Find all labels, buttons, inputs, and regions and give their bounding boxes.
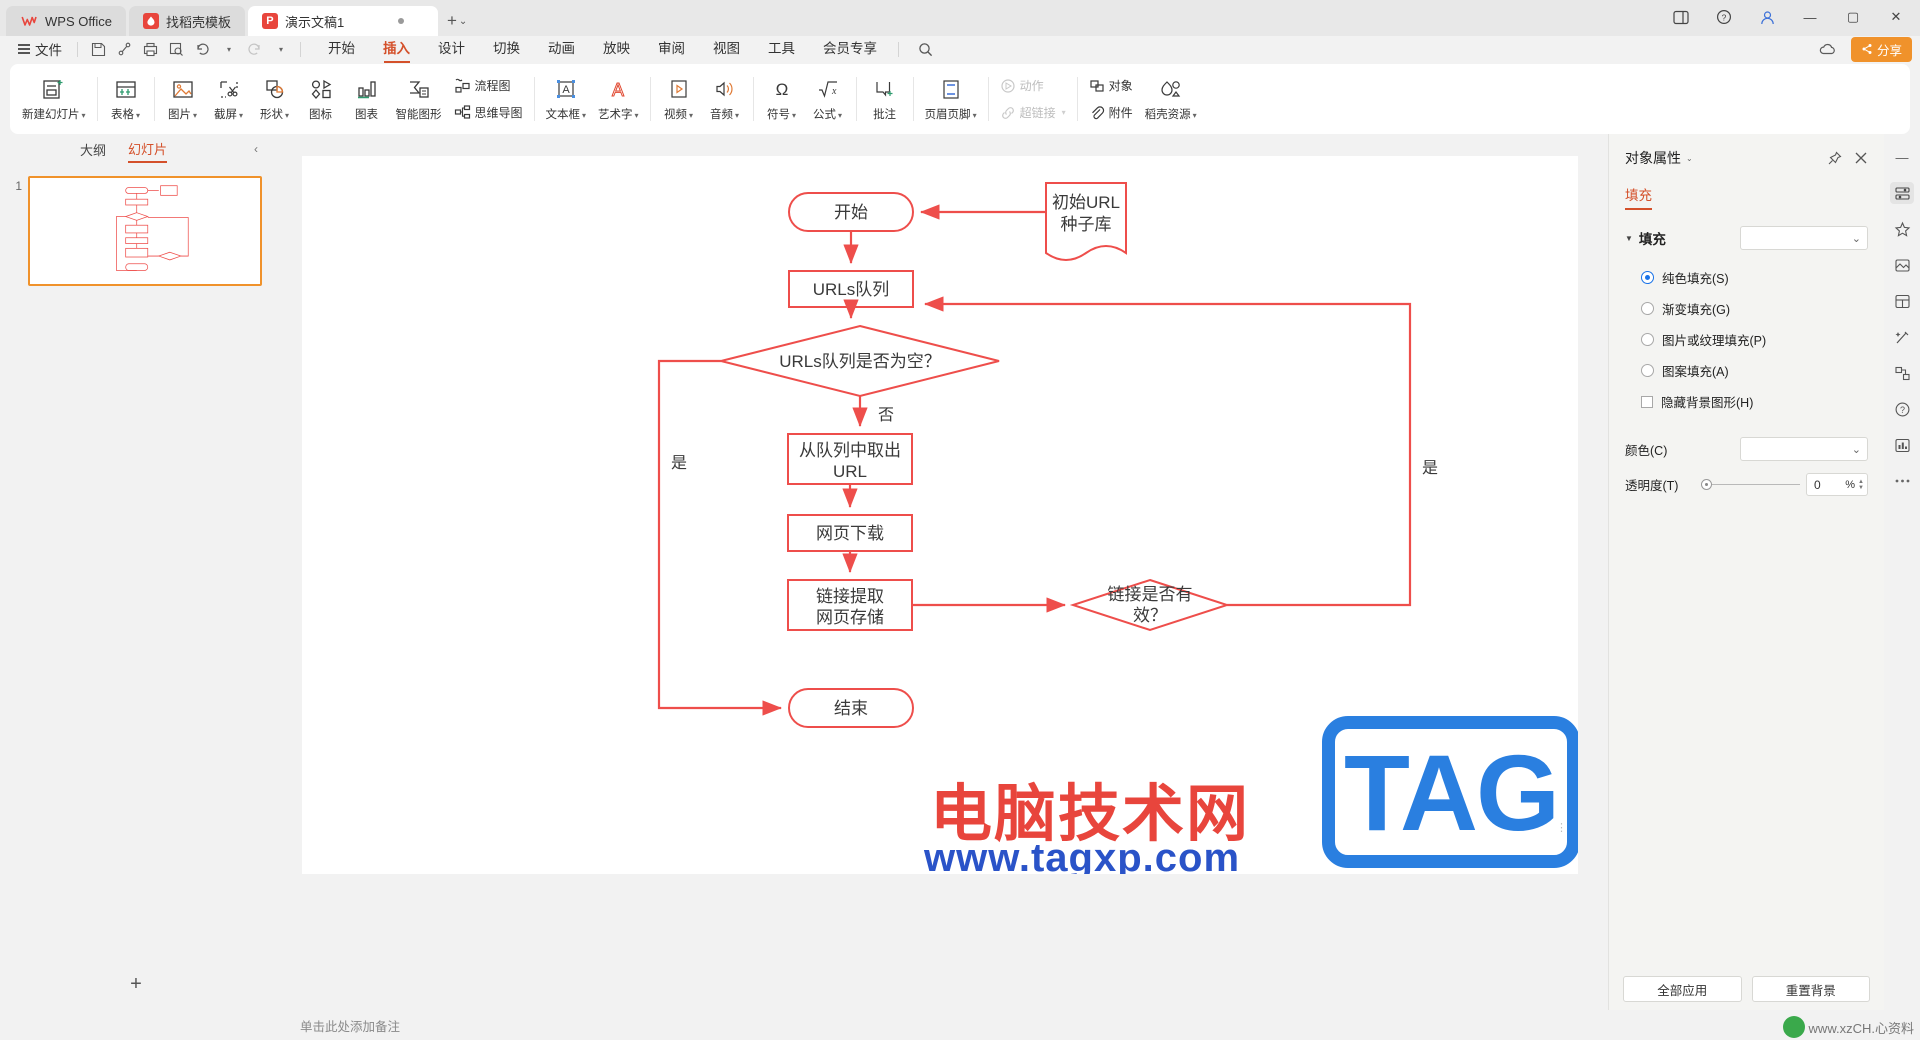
ribbon-label: 附件 <box>1109 104 1133 121</box>
transparency-value: 0 <box>1810 478 1845 492</box>
symbol-button[interactable]: Ω 符号▾ <box>759 68 805 130</box>
magic-icon[interactable] <box>1890 326 1914 348</box>
account-icon[interactable] <box>1747 3 1787 31</box>
ribbon-label: 新建幻灯片 <box>22 109 80 121</box>
triangle-down-icon: ▼ <box>1625 234 1633 243</box>
action-icon <box>1000 78 1016 94</box>
edge-isvalid-yes-to-queue <box>925 304 1410 605</box>
thumbnail-item[interactable]: 1 <box>0 168 272 286</box>
watermark-corner-badge <box>1783 1016 1805 1038</box>
edge-label-yes-valid: 是 <box>1422 460 1438 477</box>
collapse-pane-icon[interactable]: ‹ <box>254 142 258 156</box>
divider <box>300 42 301 57</box>
transparency-slider[interactable] <box>1701 479 1800 490</box>
help-icon[interactable]: ? <box>1704 3 1744 31</box>
tab-label: 找稻壳模板 <box>166 12 231 31</box>
comment-button[interactable]: 批注 <box>862 68 908 130</box>
node-label-extract-1: 链接提取 <box>816 587 884 606</box>
ribbon-group-links: 动作 超链接 ▾ <box>994 68 1072 130</box>
divider <box>988 77 989 121</box>
svg-text:A: A <box>612 80 624 100</box>
node-label-seed-2: 种子库 <box>1061 215 1112 234</box>
tab-presentation-1[interactable]: P 演示文稿1 <box>248 6 438 36</box>
fill-section: ▼ 填充 ⌄ 纯色填充(S) 渐变填充(G) 图片或纹理填充(P) <box>1609 210 1884 417</box>
chart-panel-icon[interactable] <box>1890 434 1914 456</box>
minimize-button[interactable]: — <box>1790 3 1830 31</box>
edge-label-yes-empty: 是 <box>671 455 687 472</box>
hamburger-icon <box>18 44 30 54</box>
divider <box>154 77 155 121</box>
ribbon-label: 页眉页脚 <box>925 109 971 121</box>
cloud-icon[interactable] <box>1815 38 1841 60</box>
ribbon-label: 符号 <box>767 109 790 121</box>
ribbon-label: 对象 <box>1109 77 1133 94</box>
table-button[interactable]: 表格▾ <box>103 68 149 130</box>
ribbon-group-slide: 新建幻灯片▾ <box>16 68 92 130</box>
screenshot-button[interactable]: 截屏▾ <box>206 68 252 130</box>
fill-section-toggle[interactable]: ▼ 填充 <box>1625 228 1666 248</box>
slide-number: 1 <box>10 176 22 286</box>
print-icon[interactable] <box>137 38 163 60</box>
docer-resource-icon <box>1158 76 1184 104</box>
object-button[interactable]: 对象 <box>1083 74 1139 97</box>
node-label-seed-1: 初始URL <box>1052 193 1120 212</box>
ribbon-group-object: 对象 附件 稻壳资源▾ <box>1083 68 1203 130</box>
ribbon-label: 公式 <box>813 109 836 121</box>
option-label: 渐变填充(G) <box>1662 299 1730 318</box>
node-label-isempty: URLs队列是否为空？ <box>779 352 941 371</box>
fill-section-label: 填充 <box>1639 228 1666 248</box>
notes-pane[interactable]: 单击此处添加备注 <box>0 1010 1920 1040</box>
chevron-down-icon: ⌄ <box>1852 232 1861 245</box>
ribbon-label: 表格 <box>111 109 134 121</box>
node-label-extract-2: 网页存储 <box>816 608 884 627</box>
smartart-icon <box>406 76 432 104</box>
tab-wps-office[interactable]: WPS Office <box>6 6 126 36</box>
object-properties-panel: 对象属性 ⌄ 填充 ▼ 填充 ⌄ <box>1608 134 1884 1010</box>
divider <box>97 77 98 121</box>
option-label: 纯色填充(S) <box>1662 268 1729 287</box>
picture-button[interactable]: 图片▾ <box>160 68 206 130</box>
transparency-label: 透明度(T) <box>1625 475 1695 494</box>
ribbon-toolbar: 新建幻灯片▾ 表格▾ 图片▾ 截屏▾ 形状▾ <box>10 64 1910 134</box>
tab-animation[interactable]: 动画 <box>534 36 589 62</box>
hyperlink-button: 超链接 ▾ <box>994 101 1072 124</box>
more-quick-icon[interactable]: ▾ <box>267 38 293 60</box>
ribbon-tabs: 开始 插入 设计 切换 动画 放映 审阅 视图 工具 会员专享 <box>314 36 891 62</box>
panel-footer-buttons: 全部应用 重置背景 <box>1609 966 1884 1010</box>
slide-canvas[interactable]: 开始 初始URL 种子库 URLs队列 URLs队列是否为空？ 从队列中取出 U… <box>302 156 1578 874</box>
panel-tabs: 填充 <box>1609 174 1884 210</box>
comment-icon <box>872 76 898 104</box>
pin-icon[interactable] <box>1827 151 1842 166</box>
share-arrow-icon <box>1861 43 1873 55</box>
thumbnail-tabs: 大纲 幻灯片 ‹ <box>0 134 272 168</box>
fill-header-row: ▼ 填充 ⌄ <box>1625 226 1868 250</box>
textbox-icon: A <box>553 76 579 104</box>
layout-icon[interactable] <box>1890 290 1914 312</box>
wordart-button[interactable]: A 艺术字▾ <box>592 68 645 130</box>
tab-fill[interactable]: 填充 <box>1625 184 1652 210</box>
header-footer-button[interactable]: 页眉页脚▾ <box>919 68 983 130</box>
screenshot-icon <box>216 76 242 104</box>
undo-caret-icon[interactable]: ▾ <box>215 38 241 60</box>
node-label-dequeue-1: 从队列中取出 <box>799 441 901 460</box>
svg-text:Ω: Ω <box>775 80 788 99</box>
svg-text:?: ? <box>1899 405 1904 415</box>
divider <box>753 77 754 121</box>
ribbon-label: 动作 <box>1020 77 1044 94</box>
file-menu-button[interactable]: 文件 <box>10 39 70 59</box>
docer-resource-button[interactable]: 稻壳资源▾ <box>1139 68 1203 130</box>
audio-button[interactable]: 音频▾ <box>702 68 748 130</box>
node-label-isvalid-1: 链接是否有 <box>1108 585 1193 604</box>
ribbon-label: 超链接 <box>1020 104 1056 121</box>
node-label-isvalid-2: 效？ <box>1133 606 1167 625</box>
share-button[interactable]: 分享 <box>1851 37 1912 62</box>
svg-text:?: ? <box>1722 12 1727 22</box>
tab-review[interactable]: 审阅 <box>644 36 699 62</box>
ribbon-label: 视频 <box>664 109 687 121</box>
ribbon-label: 音频 <box>710 109 733 121</box>
ribbon-group-text: A 文本框▾ A 艺术字▾ <box>540 68 645 130</box>
resize-grip-dots: ⋮ <box>1556 821 1568 834</box>
save-icon[interactable] <box>85 38 111 60</box>
menu-bar: 文件 ▾ ▾ 开始 插入 设计 切换 动画 放映 审阅 视图 工具 会员专享 <box>0 36 1920 62</box>
new-tab-button[interactable]: + ⌄ <box>447 11 467 31</box>
color-row: 颜色(C) ⌄ <box>1609 431 1884 467</box>
redo-icon <box>241 38 267 60</box>
chart-icon <box>354 76 380 104</box>
symbol-icon: Ω <box>769 76 795 104</box>
hyperlink-icon <box>1000 105 1016 121</box>
reset-background-button[interactable]: 重置背景 <box>1752 976 1871 1002</box>
divider <box>898 42 899 57</box>
ribbon-label: 图标 <box>309 109 332 121</box>
watermark-corner: www.xzCH.心资料 <box>1783 1016 1914 1038</box>
ribbon-group-symbols: Ω 符号▾ x 公式▾ <box>759 68 851 130</box>
window-controls: ? — ▢ ✕ <box>1661 3 1916 31</box>
picture-icon <box>170 76 196 104</box>
ribbon-group-headerfooter: 页眉页脚▾ <box>919 68 983 130</box>
svg-text:x: x <box>831 86 837 97</box>
radio-pattern-fill[interactable] <box>1641 364 1654 377</box>
option-label: 隐藏背景图形(H) <box>1661 392 1753 411</box>
ribbon-group-media: 视频▾ 音频▾ <box>656 68 748 130</box>
ribbon-label: 图片 <box>168 109 191 121</box>
object-icon <box>1089 78 1105 94</box>
transparency-row: 透明度(T) 0 % ▲▼ <box>1609 467 1884 502</box>
close-button[interactable]: ✕ <box>1876 3 1916 31</box>
divider <box>913 77 914 121</box>
unsaved-dot <box>398 18 404 24</box>
ribbon-group-table: 表格▾ <box>103 68 149 130</box>
flowchart-button[interactable]: 流程图 <box>448 74 529 97</box>
fill-select[interactable]: ⌄ <box>1740 226 1868 250</box>
tab-view[interactable]: 视图 <box>699 36 754 62</box>
stepper-arrows-icon[interactable]: ▲▼ <box>1858 479 1864 491</box>
notes-placeholder: 单击此处添加备注 <box>272 1016 400 1035</box>
slide-thumbnail[interactable] <box>28 176 262 286</box>
icons-icon <box>308 76 334 104</box>
menu-right-actions: 分享 <box>1815 36 1912 62</box>
node-label-start: 开始 <box>834 203 868 222</box>
mindmap-icon <box>454 104 471 121</box>
color-select[interactable]: ⌄ <box>1740 437 1868 461</box>
table-icon <box>113 76 139 104</box>
attachment-icon <box>1089 105 1105 121</box>
powerpoint-icon: P <box>262 13 278 29</box>
formula-icon: x <box>815 76 841 104</box>
ribbon-label: 形状 <box>260 109 283 121</box>
checkbox-hide-background[interactable] <box>1641 396 1653 408</box>
option-label: 图案填充(A) <box>1662 361 1729 380</box>
attachment-button[interactable]: 附件 <box>1083 101 1139 124</box>
sidebar-toggle-icon[interactable] <box>1661 3 1701 31</box>
chevron-down-icon: ⌄ <box>459 16 467 27</box>
tab-tools[interactable]: 工具 <box>754 36 809 62</box>
add-slide-button[interactable]: + <box>130 973 142 996</box>
tab-transition[interactable]: 切换 <box>479 36 534 62</box>
ribbon-label: 智能图形 <box>396 109 442 121</box>
plus-icon: + <box>447 11 457 31</box>
panel-header: 对象属性 ⌄ <box>1609 134 1884 174</box>
wordart-icon: A <box>605 76 631 104</box>
option-hide-background-graphics[interactable]: 隐藏背景图形(H) <box>1625 386 1868 417</box>
tab-slideshow[interactable]: 放映 <box>589 36 644 62</box>
minimize-rail-icon[interactable]: — <box>1890 146 1914 168</box>
action-button: 动作 <box>994 74 1072 97</box>
thumbnail-flowchart-preview <box>30 178 260 284</box>
option-pattern-fill[interactable]: 图案填充(A) <box>1625 355 1868 386</box>
share-icon[interactable] <box>111 38 137 60</box>
option-gradient-fill[interactable]: 渐变填充(G) <box>1625 293 1868 324</box>
close-icon[interactable] <box>1854 151 1868 165</box>
watermark-corner-text: www.xzCH.心资料 <box>1809 1018 1914 1037</box>
video-button[interactable]: 视频▾ <box>656 68 702 130</box>
main-area: 大纲 幻灯片 ‹ 1 <box>0 134 1920 1010</box>
smartart-button[interactable]: 智能图形 <box>390 68 448 130</box>
new-slide-icon <box>41 76 67 104</box>
node-label-end: 结束 <box>834 699 868 718</box>
ribbon-group-comment: 批注 <box>862 68 908 130</box>
mindmap-button[interactable]: 思维导图 <box>448 101 529 124</box>
radio-gradient-fill[interactable] <box>1641 302 1654 315</box>
tab-label: WPS Office <box>45 14 112 29</box>
diagram-icon[interactable] <box>1890 362 1914 384</box>
transparency-unit: % <box>1845 479 1855 491</box>
edge-isempty-yes-to-end <box>659 361 781 708</box>
tab-outline[interactable]: 大纲 <box>80 140 106 162</box>
formula-button[interactable]: x 公式▾ <box>805 68 851 130</box>
panel-title: 对象属性 <box>1625 148 1681 168</box>
share-button-label: 分享 <box>1877 40 1902 59</box>
ribbon-label: 批注 <box>873 109 896 121</box>
file-menu-label: 文件 <box>35 39 62 59</box>
divider <box>650 77 651 121</box>
icons-button[interactable]: 图标 <box>298 68 344 130</box>
flowchart-icon <box>454 77 471 94</box>
star-icon[interactable] <box>1890 218 1914 240</box>
divider <box>77 42 78 57</box>
ribbon-label: 图表 <box>355 109 378 121</box>
option-picture-texture-fill[interactable]: 图片或纹理填充(P) <box>1625 324 1868 355</box>
option-label: 图片或纹理填充(P) <box>1662 330 1766 349</box>
ribbon-group-illustrations: 图片▾ 截屏▾ 形状▾ 图标 图表 <box>160 68 529 130</box>
title-bar: WPS Office 找稻壳模板 P 演示文稿1 + ⌄ ? — ▢ ✕ <box>0 0 1920 36</box>
slide-thumbnail-pane: 大纲 幻灯片 ‹ 1 <box>0 134 272 1010</box>
radio-picture-texture-fill[interactable] <box>1641 333 1654 346</box>
slider-knob[interactable] <box>1701 479 1712 490</box>
new-slide-button[interactable]: 新建幻灯片▾ <box>16 68 92 130</box>
tab-design[interactable]: 设计 <box>424 36 479 62</box>
ribbon-stack-links: 动作 超链接 ▾ <box>994 68 1072 130</box>
chart-button[interactable]: 图表 <box>344 68 390 130</box>
slide-canvas-area: 开始 初始URL 种子库 URLs队列 URLs队列是否为空？ 从队列中取出 U… <box>272 134 1608 1010</box>
header-footer-icon <box>938 76 964 104</box>
node-label-download: 网页下载 <box>816 524 884 543</box>
option-solid-fill[interactable]: 纯色填充(S) <box>1625 262 1868 293</box>
properties-icon[interactable] <box>1890 182 1914 204</box>
wps-logo-icon <box>20 12 38 30</box>
ribbon-label: 流程图 <box>475 77 511 94</box>
print-preview-icon[interactable] <box>163 38 189 60</box>
ribbon-label: 截屏 <box>214 109 237 121</box>
tab-insert[interactable]: 插入 <box>369 36 424 62</box>
divider <box>1077 77 1078 121</box>
apply-all-button[interactable]: 全部应用 <box>1623 976 1742 1002</box>
edge-label-no: 否 <box>878 407 894 424</box>
shapes-button[interactable]: 形状▾ <box>252 68 298 130</box>
ribbon-label: 稻壳资源 <box>1145 109 1191 121</box>
flowchart-diagram[interactable]: 开始 初始URL 种子库 URLs队列 URLs队列是否为空？ 从队列中取出 U… <box>302 156 1578 874</box>
gallery-icon[interactable] <box>1890 254 1914 276</box>
node-label-queue: URLs队列 <box>813 280 890 299</box>
search-icon[interactable] <box>918 42 933 57</box>
ribbon-label: 文本框 <box>546 109 581 121</box>
tab-docer-template[interactable]: 找稻壳模板 <box>129 6 245 36</box>
tab-start[interactable]: 开始 <box>314 36 369 62</box>
radio-solid-fill[interactable] <box>1641 271 1654 284</box>
ribbon-label: 艺术字 <box>598 109 633 121</box>
video-icon <box>666 76 692 104</box>
more-dots-icon[interactable] <box>1890 470 1914 492</box>
undo-icon[interactable] <box>189 38 215 60</box>
svg-text:A: A <box>562 84 570 96</box>
chevron-down-icon: ⌄ <box>1852 443 1861 456</box>
maximize-button[interactable]: ▢ <box>1833 3 1873 31</box>
divider <box>534 77 535 121</box>
tab-label: 演示文稿1 <box>285 12 344 31</box>
color-label: 颜色(C) <box>1625 440 1695 459</box>
transparency-stepper[interactable]: 0 % ▲▼ <box>1806 473 1868 496</box>
docer-icon <box>143 13 159 29</box>
textbox-button[interactable]: A 文本框▾ <box>540 68 593 130</box>
ribbon-stack-diagram: 流程图 思维导图 <box>448 68 529 130</box>
right-icon-rail: — ? <box>1884 134 1920 1010</box>
node-label-dequeue-2: URL <box>833 462 867 481</box>
ribbon-stack-object: 对象 附件 <box>1083 68 1139 130</box>
divider <box>856 77 857 121</box>
slider-track[interactable] <box>1712 484 1800 486</box>
tab-member[interactable]: 会员专享 <box>809 36 891 62</box>
panel-title-caret-icon[interactable]: ⌄ <box>1686 154 1693 163</box>
tab-slides[interactable]: 幻灯片 <box>128 139 167 163</box>
shapes-icon <box>262 76 288 104</box>
audio-icon <box>712 76 738 104</box>
help-circle-icon[interactable]: ? <box>1890 398 1914 420</box>
ribbon-label: 思维导图 <box>475 104 523 121</box>
